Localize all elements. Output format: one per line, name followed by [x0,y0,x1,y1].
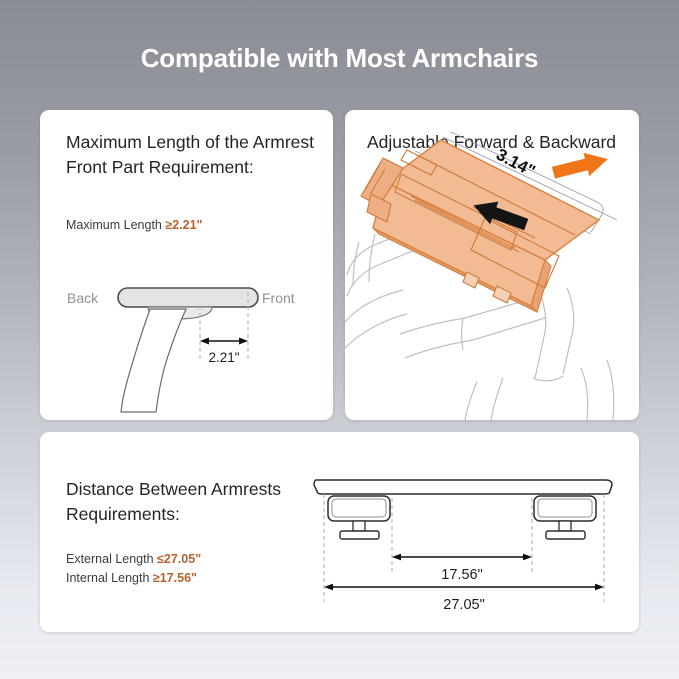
label-back: Back [67,290,99,306]
clamp-right [534,496,596,539]
page-root: Compatible with Most Armchairs Maximum L… [0,0,679,679]
clamp-left [328,496,390,539]
card-max-length: Maximum Length of the Armrest Front Part… [40,110,333,420]
dimension-arrow-outer [324,584,604,591]
card-adjustable: Adjustable Forward & Backward [345,110,639,420]
dimension-label-17-56: 17.56" [441,567,482,583]
dimension-label-2-21: 2.21" [208,350,239,365]
seat-bar [314,480,612,494]
dimension-label-27-05: 27.05" [443,597,484,613]
dimension-arrow-inner [392,554,532,561]
label-front: Front [262,290,295,306]
tray-perspective-diagram: 3.14" [345,110,639,420]
page-title: Compatible with Most Armchairs [0,43,679,74]
dimension-arrow-2-21 [200,338,248,345]
armrest-distance-diagram: 17.56" 27.05" [40,432,639,632]
card-armrest-distance: Distance Between Armrests Requirements: … [40,432,639,632]
armrest-side-diagram: 2.21" Back Front [40,110,333,420]
armrest-stem [121,309,186,412]
arrow-forward-icon [551,148,611,185]
armrest-pad-icon [118,288,258,307]
